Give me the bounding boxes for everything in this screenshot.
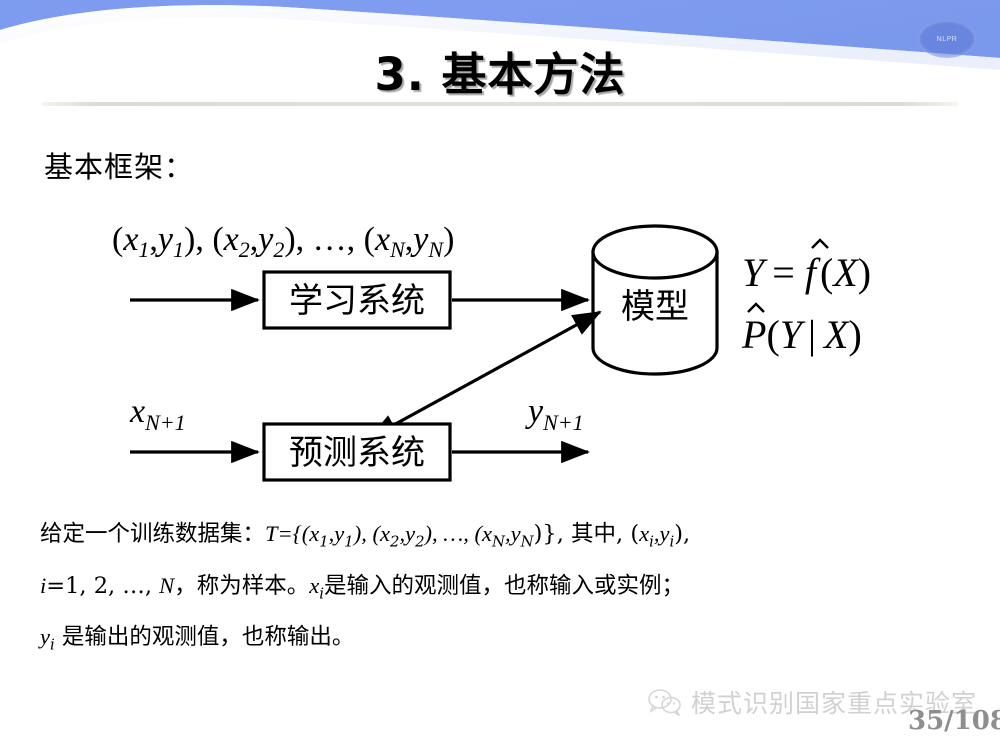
para-l1-xN-sub: N — [492, 533, 505, 551]
paragraph-line-2: i=1, 2, …, N，称为样本。xi是输入的观测值，也称输入或实例； — [40, 564, 970, 616]
para-l1-s: ), — [674, 521, 690, 547]
para-l1-x1: x — [309, 521, 319, 546]
para-l2-f: 是输入的观测值，也称输入或实例； — [324, 573, 684, 599]
para-l1-y1-sub: 1 — [344, 533, 353, 551]
para-l2-N: N — [159, 573, 174, 598]
training-set-formula: (x1,y1), (x2,y2), …, (xN,yN) — [112, 221, 454, 262]
para-l1-yN-sub: N — [521, 533, 534, 551]
para-l1-y1: y — [334, 521, 344, 546]
para-l1-c: ={( — [278, 521, 310, 546]
para-l1-xi: x — [639, 521, 649, 546]
model-formula-1: Y=f(X) — [742, 240, 871, 295]
output-label-yN1: yN+1 — [525, 393, 584, 435]
hat-accent-p — [748, 304, 764, 312]
para-l1-x2: x — [380, 521, 390, 546]
wechat-icon — [648, 688, 682, 716]
para-l1-y2-sub: 2 — [415, 533, 424, 551]
svg-text:P(Y|X): P(Y|X) — [741, 312, 862, 357]
hat-accent-f — [812, 240, 828, 248]
page-title: 3. 基本方法 — [0, 38, 1000, 103]
prediction-system-label: 预测系统 — [289, 433, 425, 473]
para-l1-x1-sub: 1 — [319, 533, 328, 551]
framework-diagram: (x1,y1), (x2,y2), …, (xN,yN) 学习系统 模型 Y=f… — [0, 200, 1000, 500]
para-l1-xN: x — [482, 521, 492, 546]
para-l3-b: 是输出的观测值，也称输出。 — [55, 624, 355, 650]
para-l3-yi: y — [40, 624, 50, 649]
para-l1-yN: y — [511, 521, 521, 546]
para-l1-y2: y — [405, 521, 415, 546]
para-l1-T: T — [265, 521, 278, 546]
input-label-xN1: xN+1 — [129, 393, 186, 435]
para-l1-k: ), …, ( — [425, 521, 483, 546]
svg-text:Y=f(X): Y=f(X) — [742, 250, 871, 295]
para-l1-yi: y — [660, 521, 670, 546]
paragraph-line-3: yi 是输出的观测值，也称输出。 — [40, 615, 970, 667]
page-number: 35/108 — [908, 706, 1000, 736]
para-l1-g: ), ( — [354, 521, 380, 546]
para-l2-b: =1, 2, …, — [46, 573, 159, 599]
para-l1-o: )}, 其中, ( — [534, 521, 639, 547]
para-l2-d: ，称为样本。 — [174, 573, 309, 599]
framework-label: 基本框架： — [44, 144, 194, 186]
paragraph-line-1: 给定一个训练数据集：T={(x1,y1), (x2,y2), …, (xN,yN… — [40, 512, 970, 564]
para-l2-xi: x — [309, 573, 319, 598]
model-formula-2: P(Y|X) — [741, 304, 862, 357]
definition-paragraph: 给定一个训练数据集：T={(x1,y1), (x2,y2), …, (xN,yN… — [40, 512, 970, 667]
diagram-svg: (x1,y1), (x2,y2), …, (xN,yN) 学习系统 模型 Y=f… — [0, 200, 1000, 500]
learning-system-label: 学习系统 — [289, 281, 425, 321]
para-l1-a: 给定一个训练数据集： — [40, 521, 265, 547]
model-label: 模型 — [621, 287, 689, 327]
